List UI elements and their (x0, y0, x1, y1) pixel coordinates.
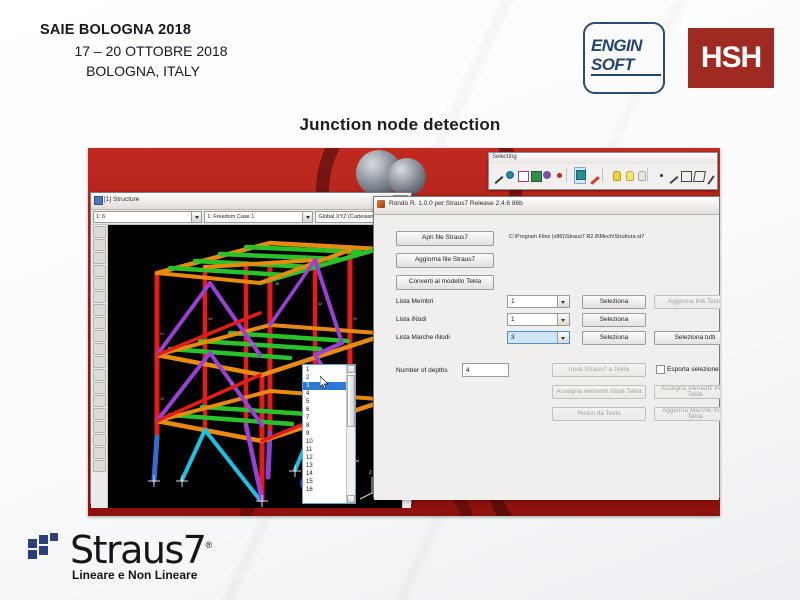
chevron-down-icon[interactable] (191, 212, 201, 222)
plate-select-icon[interactable] (529, 168, 539, 183)
axis-system-combo-value: Global XYZ (Cartesian) (318, 214, 375, 220)
selecting-toolbar-row[interactable] (489, 164, 717, 186)
rondo-dialog-titlebar[interactable]: Rondò R. 1.0.0 per Straus7 Release 2.4.6… (374, 197, 719, 215)
rect-pick-icon[interactable] (679, 168, 689, 183)
restraint-tool-icon[interactable] (93, 304, 106, 316)
group-select-icon[interactable] (574, 167, 586, 184)
line-pick-icon[interactable] (667, 168, 677, 183)
esporta-selezione-checkbox[interactable] (656, 365, 665, 374)
structure-window-title: [1] Structure (104, 196, 139, 203)
straus7-logo-text: Straus7 (70, 528, 206, 572)
invia-straus7-tekla-button: Invia Straus7 a Tekla (552, 363, 646, 377)
wallpaper-orb-2 (388, 158, 426, 196)
beam-tool-icon[interactable] (93, 252, 106, 264)
lista-marche-inodi-dropdown[interactable]: 3 (507, 331, 570, 344)
event-name: SAIE BOLOGNA 2018 (28, 22, 358, 38)
selecting-toolbar[interactable]: Selecting (488, 152, 718, 190)
seleziona-membri-button[interactable]: Seleziona (582, 295, 646, 309)
enginsoft-logo-text: ENGIN SOFT (591, 36, 661, 74)
svg-text:24: 24 (208, 317, 212, 321)
flag-red-icon[interactable] (93, 369, 106, 381)
embedded-screenshot: Selecting (88, 148, 720, 516)
dropdown-option[interactable]: 12 (303, 454, 346, 462)
attribute-tool-icon[interactable] (93, 317, 106, 329)
dropdown-option[interactable]: 5 (303, 398, 346, 406)
event-location: BOLOGNA, ITALY (28, 63, 258, 79)
file-path-text: C:\Program Files (x86)\Straus7 R2.8\Mech… (509, 234, 644, 240)
structure-window-body: 2113 2431 4255 3827 Z X Y (91, 225, 411, 508)
structure-window[interactable]: [1] Structure 1: 6 1: Freedom Case 1 Glo… (90, 192, 412, 504)
rondo-dialog-title: Rondò R. 1.0.0 per Straus7 Release 2.4.6… (389, 200, 523, 207)
lista-membri-dropdown[interactable]: 1 (507, 295, 570, 308)
svg-text:42: 42 (318, 302, 322, 306)
enginsoft-logo-line2: SOFT (591, 55, 661, 74)
straus7-logo: Straus7® Lineare e Non Lineare (28, 528, 212, 582)
light-off-icon[interactable] (634, 168, 644, 183)
flag-blue-icon[interactable] (93, 382, 106, 394)
extrude-tool-icon[interactable] (93, 421, 106, 433)
dropdown-option[interactable]: 1 (303, 366, 346, 374)
slide-background: SAIE BOLOGNA 2018 17 – 20 OTTOBRE 2018 B… (0, 0, 800, 600)
svg-text:Z: Z (369, 470, 372, 475)
polygon-pick-icon[interactable] (692, 168, 702, 183)
lista-inodi-value: 1 (511, 316, 515, 323)
scrollbar-thumb[interactable] (347, 375, 355, 427)
dropdown-option[interactable]: 11 (303, 446, 346, 454)
dropdown-option[interactable]: 13 (303, 462, 346, 470)
aggiorna-link-tekla-button: Aggiorna link Tekla (654, 295, 720, 309)
dropdown-option[interactable]: 15 (303, 478, 346, 486)
grid-tool-icon[interactable] (93, 408, 106, 420)
straus7-tagline: Lineare e Non Lineare (72, 568, 212, 582)
selecting-toolbar-title: Selecting (489, 153, 717, 164)
result-case-combo[interactable]: 1: 6 (93, 211, 202, 223)
freedom-case-combo[interactable]: 1: Freedom Case 1 (204, 211, 313, 223)
result-case-combo-value: 1: 6 (96, 214, 105, 220)
brick-select-icon[interactable] (541, 168, 551, 183)
lista-marche-inodi-options[interactable]: 12345678910111213141516 (303, 365, 346, 503)
pointer-select-icon[interactable] (492, 168, 502, 183)
structural-frame-model: 2113 2431 4255 3827 Z X Y (108, 225, 402, 508)
dropdown-option[interactable]: 10 (303, 438, 346, 446)
mesh-tool-icon[interactable] (93, 447, 106, 459)
move-tool-icon[interactable] (93, 395, 106, 407)
point-pick-icon[interactable] (655, 168, 665, 183)
light-dim-icon[interactable] (622, 168, 632, 183)
link-tool-icon[interactable] (93, 291, 106, 303)
scroll-down-icon[interactable] (347, 495, 355, 503)
chevron-down-icon[interactable] (302, 212, 312, 222)
lista-marche-inodi-value: 3 (511, 334, 515, 341)
svg-text:31: 31 (250, 342, 254, 346)
rondo-dialog-body: Apri file Straus7 Aggiorna file Straus7 … (374, 215, 719, 500)
clean-tool-icon[interactable] (93, 460, 106, 472)
seleziona-tutti-button[interactable]: Seleziona tutti (654, 331, 720, 345)
svg-text:55: 55 (353, 317, 357, 321)
straus7-logo-mark (28, 533, 68, 567)
freehand-pick-icon[interactable] (704, 168, 714, 183)
toolbar-separator-3 (647, 168, 652, 182)
lista-inodi-label: Lista iNodi (396, 316, 426, 323)
aggiorna-file-straus7-button[interactable]: Aggiorna file Straus7 (396, 253, 494, 268)
dropdown-option[interactable]: 8 (303, 422, 346, 430)
esporta-selezione-label: Esporta selezione (667, 366, 719, 373)
rondo-app-icon (377, 200, 385, 208)
globe-select-icon[interactable] (504, 168, 514, 183)
lista-membri-value: 1 (511, 298, 515, 305)
hsh-logo: HSH (688, 28, 774, 88)
rondo-dialog[interactable]: Rondò R. 1.0.0 per Straus7 Release 2.4.6… (373, 196, 720, 498)
event-header: SAIE BOLOGNA 2018 17 – 20 OTTOBRE 2018 B… (28, 22, 358, 79)
structure-window-titlebar[interactable]: [1] Structure (91, 193, 411, 210)
popup-scrollbar[interactable] (346, 365, 355, 503)
enginsoft-logo-line1: ENGIN (591, 36, 661, 55)
node-select-icon[interactable] (553, 168, 563, 183)
ricevi-da-tekla-button: Ricevi da Tekla (552, 407, 646, 421)
pressure-tool-icon[interactable] (93, 356, 106, 368)
dropdown-option[interactable]: 16 (303, 486, 346, 494)
lista-membri-label: Lista Membri (396, 298, 433, 305)
dropdown-option[interactable]: 14 (303, 470, 346, 478)
chevron-down-icon[interactable] (557, 314, 569, 325)
freedom-case-combo-value: 1: Freedom Case 1 (207, 214, 254, 220)
svg-text:27: 27 (230, 382, 234, 386)
subdivide-tool-icon[interactable] (93, 434, 106, 446)
dropdown-option[interactable]: 4 (303, 390, 346, 398)
seleziona-inodi-button[interactable]: Seleziona (582, 313, 646, 327)
registered-trademark-icon: ® (206, 540, 213, 550)
plate-tool-icon[interactable] (93, 265, 106, 277)
beam-select-icon[interactable] (516, 168, 526, 183)
lista-inodi-dropdown[interactable]: 1 (507, 313, 570, 326)
page-title: Junction node detection (0, 115, 800, 135)
enginsoft-logo-rule (591, 74, 661, 76)
brick-tool-icon[interactable] (93, 278, 106, 290)
dropdown-option[interactable]: 2 (303, 374, 346, 382)
assegna-elementi-inodi-button-left: Assegna elementi iNodi Tekla (552, 385, 646, 399)
scroll-up-icon[interactable] (347, 365, 355, 373)
enginsoft-logo: ENGIN SOFT (583, 22, 665, 94)
number-of-depths-label: Number of depths (396, 367, 448, 374)
light-on-icon[interactable] (609, 168, 619, 183)
paint-select-icon[interactable] (588, 168, 598, 183)
property-tool-icon[interactable] (93, 343, 106, 355)
node-tool-icon[interactable] (93, 239, 106, 251)
dropdown-option[interactable]: 6 (303, 406, 346, 414)
chevron-down-icon[interactable] (557, 332, 569, 343)
model-viewport[interactable]: 2113 2431 4255 3827 Z X Y (108, 225, 402, 508)
toolbar-separator-2 (602, 168, 607, 182)
converti-modello-tekla-button[interactable]: Converti al modello Tekla (396, 275, 494, 290)
dropdown-option[interactable]: 9 (303, 430, 346, 438)
list-view-icon[interactable] (93, 226, 106, 238)
structure-window-icon (94, 196, 103, 205)
svg-text:38: 38 (275, 282, 279, 286)
assegna-elementi-inodi-tekla-button: Assegna elementi iNodi Tekla (654, 385, 720, 399)
seleziona-marche-button[interactable]: Seleziona (582, 331, 646, 345)
structure-vertical-toolbar[interactable] (91, 225, 108, 508)
apri-file-straus7-button[interactable]: Apri file Straus7 (396, 231, 494, 246)
chevron-down-icon[interactable] (557, 296, 569, 307)
point-force-icon[interactable] (93, 330, 106, 342)
lista-marche-inodi-popup[interactable]: 12345678910111213141516 (302, 364, 356, 504)
structure-window-toolbar[interactable]: 1: 6 1: Freedom Case 1 Global XYZ (Carte… (91, 210, 411, 225)
lista-marche-inodi-label: Lista Marche iNodi (396, 334, 450, 341)
number-of-depths-input[interactable]: 4 (462, 363, 509, 377)
event-dates: 17 – 20 OTTOBRE 2018 (28, 43, 266, 59)
dropdown-option[interactable]: 7 (303, 414, 346, 422)
toolbar-separator-1 (566, 168, 571, 182)
aggiorna-marche-inodi-tekla-button: Aggiorna Marche iNodi Tekla (654, 407, 720, 421)
svg-text:21: 21 (160, 332, 164, 336)
dropdown-option[interactable]: 3 (303, 382, 346, 390)
svg-text:13: 13 (160, 397, 164, 401)
hsh-logo-text: HSH (688, 28, 774, 88)
